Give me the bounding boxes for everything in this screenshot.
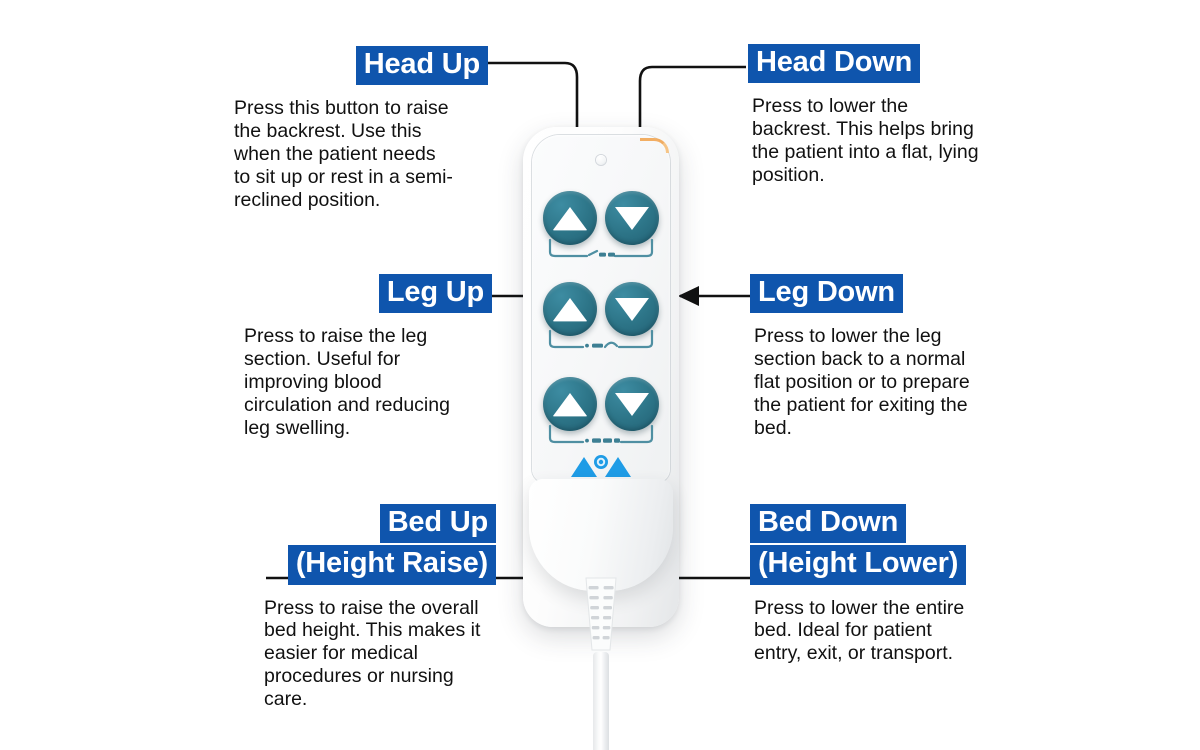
button-bed-up[interactable] bbox=[543, 377, 597, 431]
status-led-icon bbox=[596, 155, 606, 165]
button-leg-down[interactable] bbox=[605, 282, 659, 336]
description-head-up: Press this button to raise the backrest.… bbox=[226, 97, 488, 211]
label-bed-down: Bed Down bbox=[750, 504, 906, 543]
button-leg-up[interactable] bbox=[543, 282, 597, 336]
bed-height-glyph-icon bbox=[543, 425, 659, 451]
annotation-bed-down: Bed Down (Height Lower) Press to lower t… bbox=[750, 504, 1000, 665]
polar-mountain-icon bbox=[565, 453, 637, 479]
label-head-down: Head Down bbox=[748, 44, 920, 83]
label-leg-up: Leg Up bbox=[379, 274, 492, 313]
annotation-head-down: Head Down Press to lower the backrest. T… bbox=[748, 44, 1020, 187]
annotation-head-up: Head Up Press this button to raise the b… bbox=[226, 46, 488, 211]
label-head-up: Head Up bbox=[356, 46, 488, 85]
annotation-leg-up: Leg Up Press to raise the leg section. U… bbox=[236, 274, 492, 439]
bed-remote-control: POLAR bbox=[523, 127, 679, 627]
description-bed-down: Press to lower the entire bed. Ideal for… bbox=[750, 597, 1000, 665]
triangle-up-icon bbox=[553, 298, 587, 321]
description-leg-down: Press to lower the leg section back to a… bbox=[750, 325, 1020, 439]
power-cable bbox=[593, 652, 609, 750]
label-leg-down: Leg Down bbox=[750, 274, 903, 313]
description-bed-up: Press to raise the overall bed height. T… bbox=[258, 597, 496, 711]
illustration-canvas: POLAR Head Up bbox=[0, 0, 1200, 750]
label-bed-down-sub: (Height Lower) bbox=[750, 545, 966, 584]
triangle-up-icon bbox=[553, 207, 587, 230]
button-head-down[interactable] bbox=[605, 191, 659, 245]
label-bed-up-sub: (Height Raise) bbox=[288, 545, 496, 584]
annotation-leg-down: Leg Down Press to lower the leg section … bbox=[750, 274, 1020, 439]
button-head-up[interactable] bbox=[543, 191, 597, 245]
triangle-down-icon bbox=[615, 393, 649, 416]
legrest-bed-glyph-icon bbox=[543, 330, 659, 356]
description-leg-up: Press to raise the leg section. Useful f… bbox=[236, 325, 492, 439]
label-bed-up: Bed Up bbox=[380, 504, 496, 543]
triangle-down-icon bbox=[615, 298, 649, 321]
annotation-bed-up: Bed Up (Height Raise) Press to raise the… bbox=[258, 504, 496, 711]
description-head-down: Press to lower the backrest. This helps … bbox=[748, 95, 1020, 186]
backrest-bed-glyph-icon bbox=[543, 239, 659, 265]
triangle-up-icon bbox=[553, 393, 587, 416]
button-bed-down[interactable] bbox=[605, 377, 659, 431]
triangle-down-icon bbox=[615, 207, 649, 230]
